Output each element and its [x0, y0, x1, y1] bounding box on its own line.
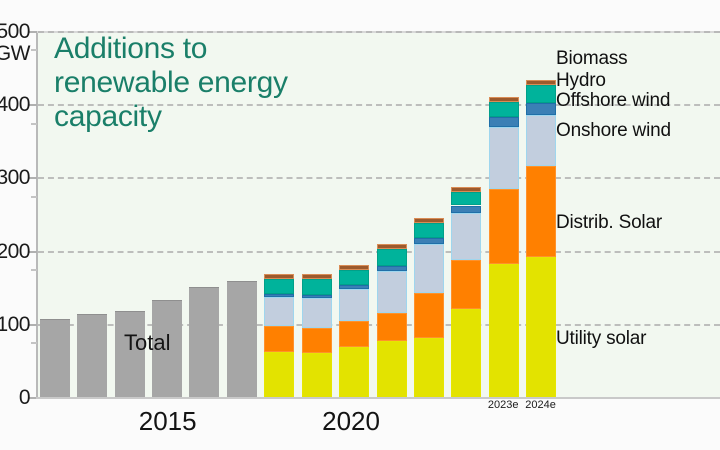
bar-segment — [264, 279, 294, 294]
chart-title-line-3: capacity — [54, 100, 354, 134]
bar-segment — [339, 347, 369, 398]
bar-stacked — [302, 274, 332, 398]
bar-segment — [451, 206, 481, 213]
bar-segment — [489, 127, 519, 188]
y-axis-label: 500 — [0, 21, 30, 42]
total-series-label: Total — [124, 330, 170, 356]
bar-segment — [414, 293, 444, 338]
bar-total — [40, 319, 70, 398]
x-axis-label: 2023e — [488, 399, 519, 411]
bar-segment — [526, 166, 556, 258]
bar-segment — [339, 289, 369, 321]
bar-segment — [264, 352, 294, 398]
bar-segment — [302, 295, 332, 299]
bar-segment — [414, 223, 444, 238]
bar-stacked — [339, 265, 369, 398]
y-axis-label: 400 — [0, 94, 30, 115]
bar-segment — [414, 218, 444, 223]
bar-stacked — [526, 80, 556, 398]
bar-segment — [489, 102, 519, 117]
bar-segment — [451, 213, 481, 261]
bar-segment — [377, 271, 407, 313]
bar-segment — [302, 298, 332, 328]
chart-title-line-2: renewable energy — [54, 66, 354, 100]
bar-segment — [526, 103, 556, 115]
bar-segment — [377, 341, 407, 398]
bar-segment — [526, 85, 556, 103]
y-axis-label: 100 — [0, 314, 30, 335]
bar-segment — [451, 192, 481, 205]
bar-segment — [414, 238, 444, 245]
y-axis-label: 0 — [0, 387, 30, 408]
bar-segment — [526, 115, 556, 166]
bar-segment — [339, 321, 369, 347]
y-axis-label: 300 — [0, 167, 30, 188]
bar-segment — [339, 265, 369, 270]
bar-segment — [264, 326, 294, 352]
bar-total — [77, 314, 107, 398]
x-axis-baseline — [36, 397, 720, 399]
bar-segment — [451, 309, 481, 398]
bar-segment — [489, 117, 519, 127]
bar-stacked — [451, 187, 481, 398]
bar-segment — [302, 274, 332, 279]
bar-segment — [489, 189, 519, 264]
bar-segment — [377, 266, 407, 270]
legend-item-utility-solar: Utility solar — [556, 328, 646, 350]
bar-total — [189, 287, 219, 398]
bar-segment — [302, 328, 332, 352]
chart-title: Additions to renewable energy capacity — [54, 32, 354, 134]
bar-segment — [451, 187, 481, 192]
x-axis-label: 2015 — [139, 406, 197, 437]
bar-segment — [451, 260, 481, 308]
bar-segment — [526, 257, 556, 398]
bar-segment — [377, 244, 407, 249]
chart-root: 500GW4003002001000 Additions to renewabl… — [0, 0, 720, 450]
bar-segment — [377, 249, 407, 266]
legend-item-offshore-wind: Offshore wind — [556, 90, 670, 112]
bar-segment — [526, 80, 556, 86]
legend-item-onshore-wind: Onshore wind — [556, 120, 671, 142]
y-axis-unit-label: GW — [0, 43, 30, 64]
bar-segment — [339, 270, 369, 285]
bar-segment — [339, 285, 369, 289]
bar-segment — [489, 264, 519, 398]
legend-item-biomass: Biomass — [556, 48, 627, 70]
bar-segment — [264, 274, 294, 279]
bar-stacked — [264, 274, 294, 398]
legend-item-hydro: Hydro — [556, 70, 606, 92]
bar-segment — [264, 297, 294, 326]
bar-segment — [264, 294, 294, 297]
bar-segment — [414, 244, 444, 292]
bar-segment — [302, 353, 332, 398]
x-axis-label: 2020 — [322, 406, 380, 437]
bar-segment — [489, 97, 519, 102]
y-axis-label: 200 — [0, 241, 30, 262]
bar-segment — [302, 279, 332, 294]
x-axis-label: 2024e — [525, 399, 556, 411]
bar-segment — [414, 338, 444, 398]
bar-stacked — [414, 218, 444, 398]
legend-item-distrib-solar: Distrib. Solar — [556, 212, 662, 234]
bar-stacked — [489, 97, 519, 398]
chart-title-line-1: Additions to — [54, 32, 354, 66]
bar-total — [227, 281, 257, 398]
bar-stacked — [377, 244, 407, 398]
bar-segment — [377, 313, 407, 341]
